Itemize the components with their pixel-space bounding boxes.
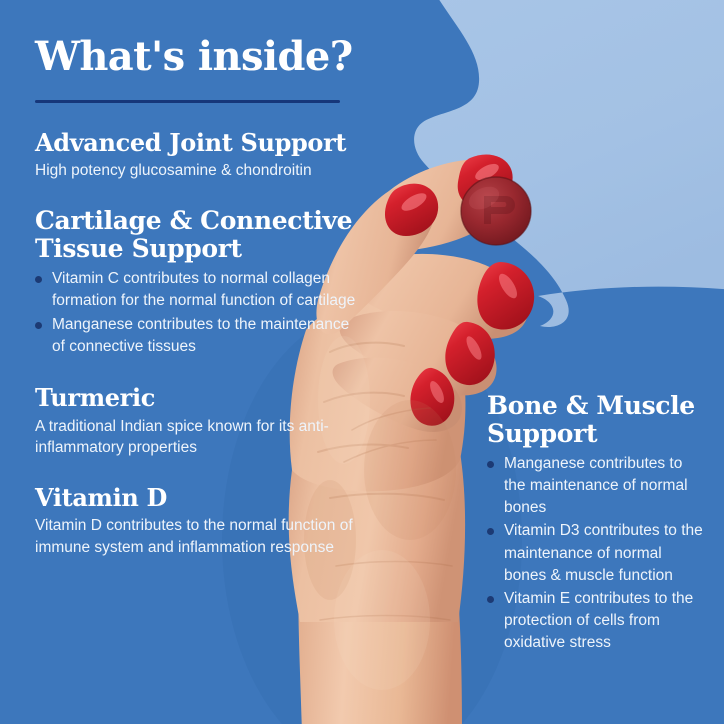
list-item-text: Manganese contributes to the maintenance… (52, 316, 349, 355)
whats-inside-infographic: What's inside? Advanced Joint Support Hi… (0, 0, 724, 724)
section-subtitle: High potency glucosamine & chondroitin (35, 160, 365, 181)
list-item: Vitamin C contributes to normal collagen… (35, 268, 365, 313)
list-item-text: Manganese contributes to the maintenance… (504, 455, 688, 516)
section-heading: Vitamin D (35, 484, 365, 511)
section-turmeric: Turmeric A traditional Indian spice know… (35, 384, 365, 458)
section-subtitle: A traditional Indian spice known for its… (35, 416, 365, 459)
list-item-text: Vitamin D3 contributes to the maintenanc… (504, 522, 703, 583)
page-title: What's inside? (35, 36, 365, 78)
title-divider (35, 100, 340, 103)
list-item: Vitamin D3 contributes to the maintenanc… (487, 520, 705, 586)
section-subtitle: Vitamin D contributes to the normal func… (35, 515, 365, 558)
left-content-column: What's inside? Advanced Joint Support Hi… (35, 36, 365, 558)
benefit-list: Vitamin C contributes to normal collagen… (35, 268, 365, 359)
list-item-text: Vitamin E contributes to the protection … (504, 590, 693, 651)
bullet-dot-icon (35, 276, 42, 283)
section-cartilage-connective-tissue-support: Cartilage & Connective Tissue Support Vi… (35, 207, 365, 358)
list-item: Manganese contributes to the maintenance… (35, 314, 365, 359)
section-vitamin-d: Vitamin D Vitamin D contributes to the n… (35, 484, 365, 558)
right-content-column: Bone & Muscle Support Manganese contribu… (487, 392, 705, 655)
section-heading: Cartilage & Connective Tissue Support (35, 207, 365, 264)
bullet-dot-icon (487, 461, 494, 468)
bullet-dot-icon (35, 322, 42, 329)
red-tablet (461, 177, 531, 245)
bullet-dot-icon (487, 528, 494, 535)
bullet-dot-icon (487, 596, 494, 603)
section-advanced-joint-support: Advanced Joint Support High potency gluc… (35, 129, 365, 181)
benefit-list: Manganese contributes to the maintenance… (487, 453, 705, 654)
list-item: Manganese contributes to the maintenance… (487, 453, 705, 519)
list-item: Vitamin E contributes to the protection … (487, 588, 705, 654)
section-bone-muscle-support: Bone & Muscle Support Manganese contribu… (487, 392, 705, 654)
section-heading: Turmeric (35, 384, 365, 411)
list-item-text: Vitamin C contributes to normal collagen… (52, 270, 355, 309)
section-heading: Bone & Muscle Support (487, 392, 705, 447)
section-heading: Advanced Joint Support (35, 129, 365, 156)
